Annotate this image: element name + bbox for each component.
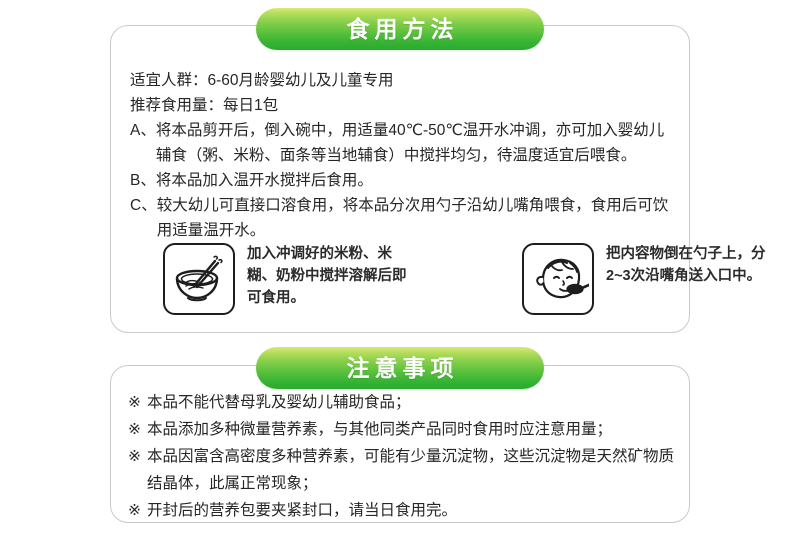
usage-step-a-marker: A、 [130,118,156,168]
usage-illustration-row: 加入冲调好的米粉、米糊、奶粉中搅拌溶解后即可食用。 [163,243,663,315]
usage-step-b-marker: B、 [130,168,156,193]
usage-step-b-text: 将本品加入温开水搅拌后食用。 [156,168,678,193]
notice-item-3: ※ 本品因富含高密度多种营养素，可能有少量沉淀物，这些沉淀物是天然矿物质结晶体，… [128,443,680,497]
notice-body: ※ 本品不能代替母乳及婴幼儿辅助食品； ※ 本品添加多种微量营养素，与其他同类产… [128,389,680,524]
notice-item-2: ※ 本品添加多种微量营养素，与其他同类产品同时食用时应注意用量； [128,416,680,443]
illustration-caption-feed-with-spoon: 把内容物倒在勺子上，分2~3次沿嘴角送入口中。 [606,243,774,287]
recommended-dosage-line: 推荐食用量：每日1包 [130,93,678,118]
notice-item-4: ※ 开封后的营养包要夹紧封口，请当日食用完。 [128,497,680,524]
notice-item-3-text: 本品因富含高密度多种营养素，可能有少量沉淀物，这些沉淀物是天然矿物质结晶体，此属… [147,443,680,497]
notice-bullet-icon: ※ [128,497,141,524]
illustration-caption-mix-into-porridge: 加入冲调好的米粉、米糊、奶粉中搅拌溶解后即可食用。 [247,243,415,309]
notice-header-pill: 注意事项 [256,347,544,389]
usage-step-a: A、 将本品剪开后，倒入碗中，用适量40℃-50℃温开水冲调，亦可加入婴幼儿辅食… [130,118,678,168]
notice-item-1: ※ 本品不能代替母乳及婴幼儿辅助食品； [128,389,680,416]
usage-method-header-label: 食用方法 [342,18,459,41]
product-instructions-page: 食用方法 适宜人群：6-60月龄婴幼儿及儿童专用 推荐食用量：每日1包 A、 将… [0,0,800,558]
notice-bullet-icon: ※ [128,389,141,416]
usage-method-header-pill: 食用方法 [256,8,544,50]
baby-fed-with-spoon-icon [522,243,594,315]
usage-step-c-marker: C、 [130,193,157,243]
suitable-audience-line: 适宜人群：6-60月龄婴幼儿及儿童专用 [130,68,678,93]
notice-item-4-text: 开封后的营养包要夹紧封口，请当日食用完。 [147,497,680,524]
notice-header-label: 注意事项 [342,357,459,380]
usage-method-body: 适宜人群：6-60月龄婴幼儿及儿童专用 推荐食用量：每日1包 A、 将本品剪开后… [130,68,678,243]
bowl-with-chopsticks-icon [163,243,235,315]
usage-step-a-text: 将本品剪开后，倒入碗中，用适量40℃-50℃温开水冲调，亦可加入婴幼儿辅食（粥、… [156,118,678,168]
notice-item-2-text: 本品添加多种微量营养素，与其他同类产品同时食用时应注意用量； [147,416,680,443]
usage-step-c: C、 较大幼儿可直接口溶食用，将本品分次用勺子沿幼儿嘴角喂食，食用后可饮用适量温… [130,193,678,243]
usage-step-c-text: 较大幼儿可直接口溶食用，将本品分次用勺子沿幼儿嘴角喂食，食用后可饮用适量温开水。 [157,193,678,243]
notice-item-1-text: 本品不能代替母乳及婴幼儿辅助食品； [147,389,680,416]
illustration-block-feed-with-spoon: 把内容物倒在勺子上，分2~3次沿嘴角送入口中。 [522,243,774,315]
usage-step-b: B、 将本品加入温开水搅拌后食用。 [130,168,678,193]
illustration-block-mix-into-porridge: 加入冲调好的米粉、米糊、奶粉中搅拌溶解后即可食用。 [163,243,415,315]
notice-bullet-icon: ※ [128,416,141,443]
notice-bullet-icon: ※ [128,443,141,497]
